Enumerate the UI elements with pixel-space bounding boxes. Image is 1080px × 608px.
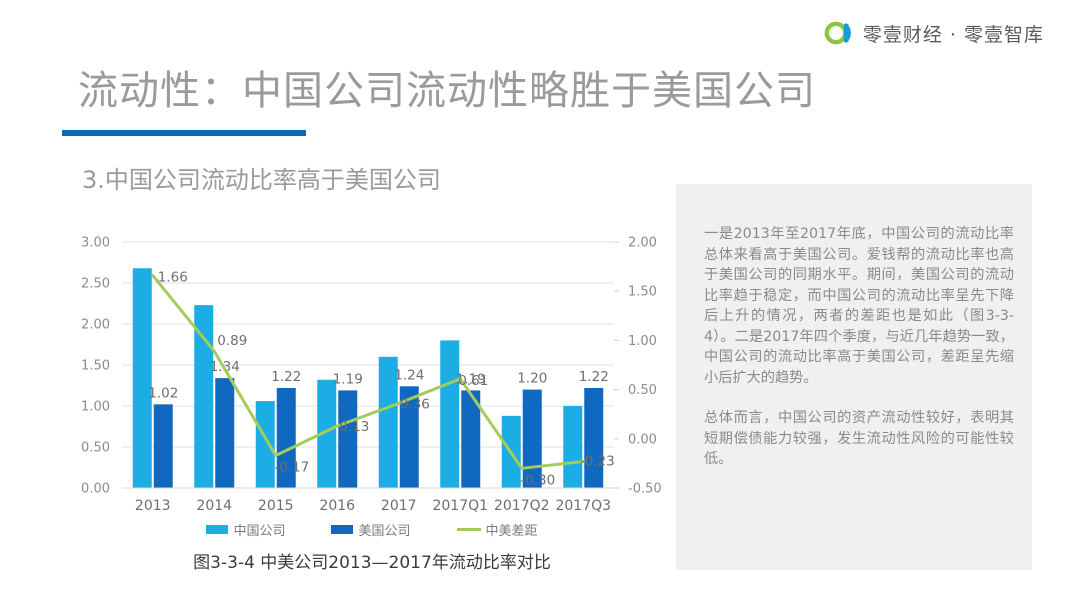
side-note-text: 一是2013年至2017年底，中国公司的流动比率总体来看高于美国公司。爱钱帮的流… (704, 224, 1014, 470)
section-subtitle: 3.中国公司流动比率高于美国公司 (82, 160, 441, 195)
x-axis-tick-label: 2017 (381, 498, 417, 514)
bar-中国公司[interactable] (563, 406, 582, 488)
y-axis-left-tick: 2.00 (81, 318, 110, 333)
y-axis-left-tick: 0.50 (81, 441, 110, 456)
y-axis-left-tick: 2.50 (81, 277, 110, 292)
line-value-label: 0.13 (339, 419, 369, 435)
bar-美国公司[interactable] (338, 390, 357, 488)
bar-中国公司[interactable] (440, 340, 459, 488)
legend-item[interactable]: 美国公司 (331, 520, 410, 539)
y-axis-left-tick: 0.00 (81, 482, 110, 497)
x-axis-tick-label: 2016 (319, 498, 355, 514)
brand-logo: 零壹财经 · 零壹智库 (824, 18, 1044, 48)
x-axis-tick-label: 2017Q2 (494, 498, 550, 514)
chart-legend: 中国公司美国公司中美差距 (62, 520, 682, 539)
y-axis-right-tick: -0.50 (628, 482, 662, 497)
page-title: 流动性：中国公司流动性略胜于美国公司 (78, 58, 816, 116)
bar-value-label: 1.19 (333, 371, 363, 387)
lingyi-logo-icon (824, 18, 854, 48)
x-axis-tick-label: 2017Q3 (555, 498, 611, 514)
line-value-label: 0.89 (217, 333, 247, 349)
line-value-label: -0.30 (520, 472, 555, 488)
bar-美国公司[interactable] (584, 388, 603, 488)
bar-中国公司[interactable] (256, 401, 275, 488)
legend-swatch-icon (206, 525, 228, 534)
bar-value-label: 1.02 (148, 385, 178, 401)
legend-item[interactable]: 中国公司 (206, 520, 285, 539)
bar-美国公司[interactable] (215, 378, 234, 488)
bar-中国公司[interactable] (133, 268, 152, 488)
brand-name: 零壹财经 · 零壹智库 (863, 20, 1044, 47)
chart-container: 0.000.501.001.502.002.503.00-0.500.000.5… (62, 228, 682, 518)
side-note-paragraph: 一是2013年至2017年底，中国公司的流动比率总体来看高于美国公司。爱钱帮的流… (704, 224, 1014, 388)
y-axis-left-tick: 1.00 (81, 400, 110, 415)
x-axis-tick-label: 2013 (135, 498, 171, 514)
legend-label: 中国公司 (233, 520, 285, 539)
side-note-paragraph: 总体而言，中国公司的资产流动性较好，表明其短期偿债能力较强，发生流动性风险的可能… (704, 408, 1014, 470)
line-value-label: 0.36 (400, 396, 430, 412)
title-underline-rule (62, 130, 306, 136)
bar-value-label: 1.22 (271, 369, 301, 385)
bar-中国公司[interactable] (194, 305, 213, 488)
y-axis-right-tick: 0.00 (628, 432, 657, 447)
legend-label: 美国公司 (358, 520, 410, 539)
line-value-label: 0.61 (458, 373, 488, 389)
legend-item[interactable]: 中美差距 (457, 520, 538, 539)
y-axis-left-tick: 3.00 (81, 236, 110, 251)
y-axis-right-tick: 2.00 (628, 236, 657, 251)
y-axis-right-tick: 1.50 (628, 285, 657, 300)
chart-caption: 图3-3-4 中美公司2013—2017年流动比率对比 (62, 548, 682, 573)
y-axis-right-tick: 0.50 (628, 383, 657, 398)
combo-chart: 0.000.501.001.502.002.503.00-0.500.000.5… (62, 228, 682, 518)
bar-value-label: 1.24 (394, 367, 424, 383)
legend-label: 中美差距 (486, 520, 538, 539)
line-value-label: 1.66 (158, 269, 188, 285)
bar-value-label: 1.20 (517, 371, 547, 387)
x-axis-tick-label: 2015 (258, 498, 294, 514)
line-value-label: -0.23 (580, 453, 615, 469)
bar-value-label: 1.22 (579, 369, 609, 385)
legend-swatch-icon (331, 525, 353, 534)
x-axis-tick-label: 2017Q1 (432, 498, 488, 514)
bar-美国公司[interactable] (154, 404, 173, 488)
x-axis-tick-label: 2014 (196, 498, 232, 514)
y-axis-right-tick: 1.00 (628, 334, 657, 349)
y-axis-left-tick: 1.50 (81, 359, 110, 374)
legend-swatch-icon (457, 528, 481, 531)
line-value-label: -0.17 (274, 460, 309, 476)
